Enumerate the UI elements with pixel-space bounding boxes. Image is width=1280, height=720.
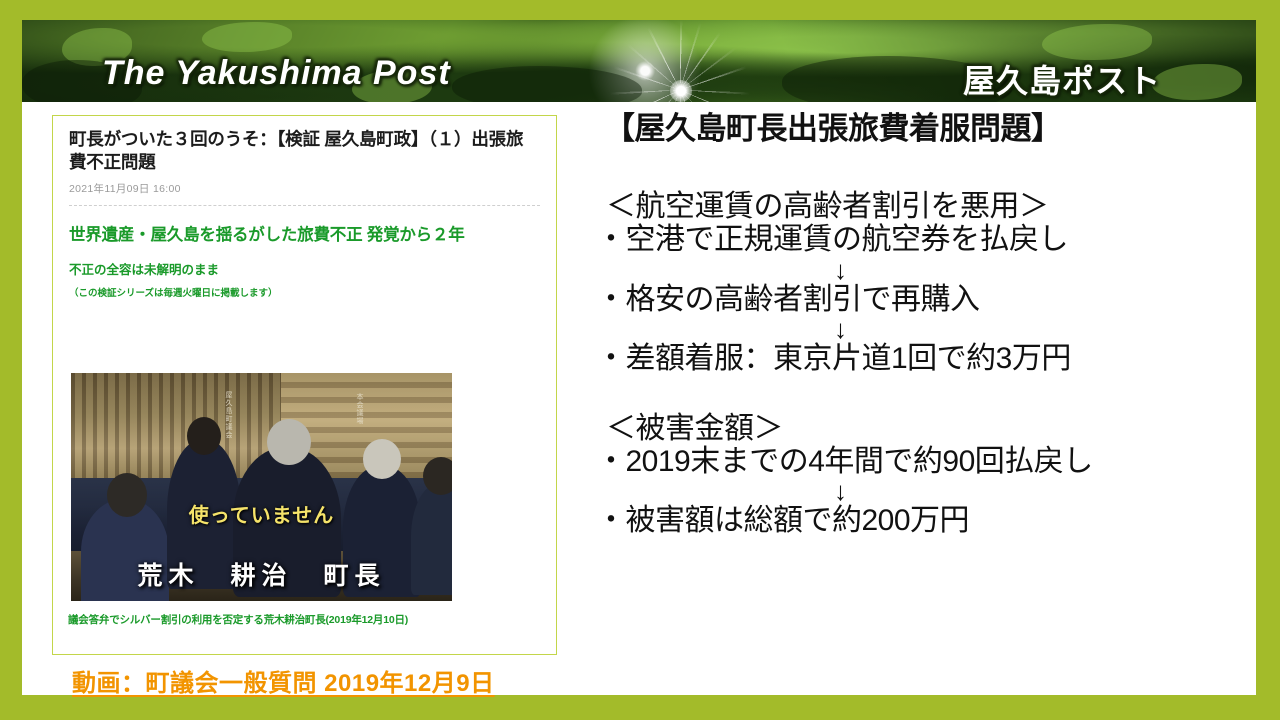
photo-person-head (363, 439, 401, 479)
photo-person-head (423, 457, 452, 495)
article-series-note: （この検証シリーズは毎週火曜日に掲載します） (69, 285, 540, 299)
article-subheadline-secondary: 不正の全容は未解明のまま (69, 259, 540, 278)
summary-s2-arrow-1: ↓ (596, 478, 1246, 504)
banner-title-japanese: 屋久島ポスト (963, 56, 1161, 102)
site-banner: The Yakushima Post 屋久島ポスト (22, 20, 1256, 102)
summary-s1-arrow-1: ↓ (596, 257, 1246, 283)
article-date: 2021年11月09日 16:00 (69, 181, 540, 196)
banner-leaf-decor (1042, 24, 1152, 60)
summary-s2-bullet-2: ・被害額は総額で約200万円 (596, 504, 1246, 538)
video-link[interactable]: 動画：町議会一般質問 2019年12月9日 (72, 663, 495, 698)
summary-s1-arrow-2: ↓ (596, 316, 1246, 342)
banner-leaf-decor (1152, 64, 1242, 100)
photo-vertical-sign-right: 本会議場 (354, 393, 364, 425)
sun-core-icon (670, 80, 692, 102)
article-headline: 町長がついた３回のうそ：【検証 屋久島町政】（１）出張旅費不正問題 (69, 128, 540, 174)
summary-section-2-heading: ＜被害金額＞ (606, 412, 1246, 445)
summary-panel: 【屋久島町長出張旅費着服問題】 ＜航空運賃の高齢者割引を悪用＞ ・空港で正規運賃… (596, 112, 1246, 692)
summary-title: 【屋久島町長出張旅費着服問題】 (604, 112, 1246, 146)
photo-name-overlay: 荒木 耕治 町長 (71, 556, 452, 592)
article-photo[interactable]: 屋久島町議会 本会議場 使っていません 荒木 耕治 町長 (71, 373, 452, 601)
photo-person-head (187, 417, 221, 455)
photo-caption: 議会答弁でシルバー割引の利用を否定する荒木耕治町長(2019年12月10日) (68, 612, 408, 627)
summary-s2-bullet-1: ・2019末までの4年間で約90回払戻し (596, 445, 1246, 479)
article-subheadline: 世界遺産・屋久島を揺るがした旅費不正 発覚から２年 (69, 220, 540, 251)
banner-title-english: The Yakushima Post (102, 54, 451, 93)
banner-leaf-decor (202, 22, 292, 52)
summary-s1-bullet-2: ・格安の高齢者割引で再購入 (596, 283, 1246, 317)
summary-s1-bullet-1: ・空港で正規運賃の航空券を払戻し (596, 223, 1246, 257)
summary-s1-bullet-3: ・差額着服：東京片道1回で約3万円 (596, 342, 1246, 376)
photo-vertical-sign-left: 屋久島町議会 (223, 391, 233, 439)
summary-section-1-heading: ＜航空運賃の高齢者割引を悪用＞ (606, 190, 1246, 223)
photo-subtitle-overlay: 使っていません (71, 499, 452, 528)
photo-person-head-main (267, 419, 311, 465)
article-divider (69, 205, 540, 206)
slide-root: The Yakushima Post 屋久島ポスト 町長がついた３回のうそ：【検… (0, 0, 1280, 720)
